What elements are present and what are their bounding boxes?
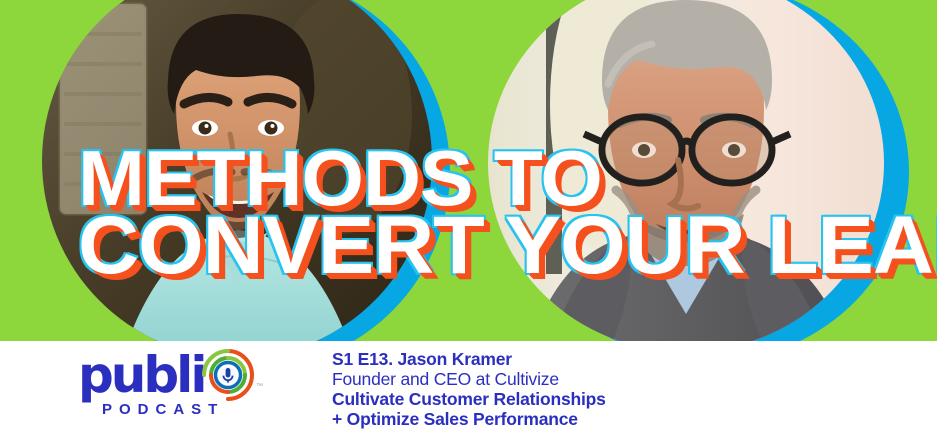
trademark-symbol: ™ (256, 383, 263, 390)
logo-tagline: PODCAST (102, 401, 224, 418)
episode-title: S1 E13. Jason Kramer (332, 349, 606, 369)
logo-wordmark: publi (78, 349, 204, 401)
episode-headline: METHODS TO CONVERT YOUR LEADS (78, 146, 937, 280)
publi-podcast-logo[interactable]: publi (78, 349, 298, 401)
headline-line-2: CONVERT YOUR LEADS (78, 212, 937, 281)
footer-bar: publi (0, 341, 937, 430)
logo-mark: publi (78, 349, 298, 401)
microphone-icon (200, 347, 256, 403)
banner-artwork: METHODS TO CONVERT YOUR LEADS (0, 0, 937, 341)
guest-role: Founder and CEO at Cultivize (332, 369, 606, 389)
podcast-episode-card: METHODS TO CONVERT YOUR LEADS publi (0, 0, 937, 430)
episode-metadata: S1 E13. Jason Kramer Founder and CEO at … (332, 349, 606, 429)
episode-topic-line-2: + Optimize Sales Performance (332, 409, 606, 429)
episode-topic-line-1: Cultivate Customer Relationships (332, 389, 606, 409)
